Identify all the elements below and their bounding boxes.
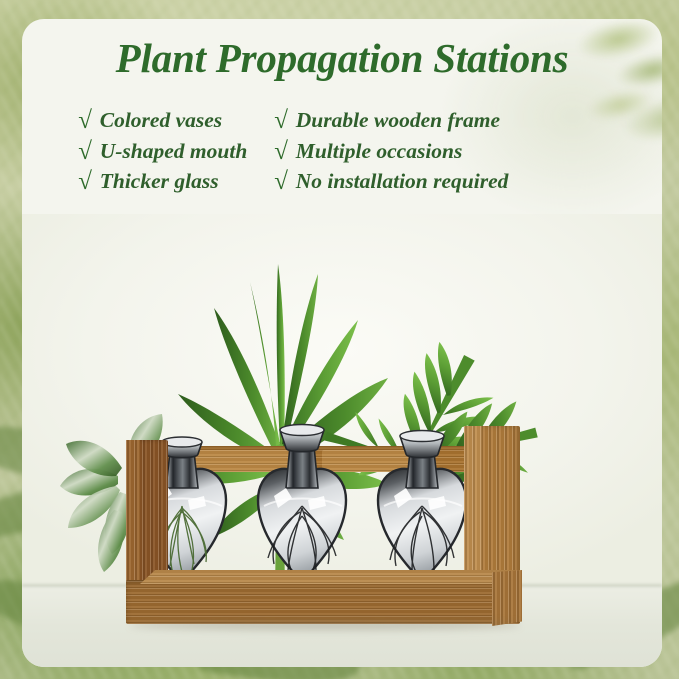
check-icon: √ [78,139,92,164]
feature-column-left: √ Colored vases √ U-shaped mouth √ Thick… [22,107,274,196]
feature-label: Multiple occasions [296,138,463,166]
feature-label: Colored vases [100,107,222,135]
feature-item-durable-wooden-frame: √ Durable wooden frame [274,107,662,135]
feature-list: √ Colored vases √ U-shaped mouth √ Thick… [22,107,662,196]
feature-item-no-installation-required: √ No installation required [274,168,662,196]
feature-item-colored-vases: √ Colored vases [78,107,274,135]
check-icon: √ [274,139,288,164]
check-icon: √ [274,108,288,133]
feature-column-right: √ Durable wooden frame √ Multiple occasi… [274,107,662,196]
rack-base-side-face [492,570,522,626]
page-title: Plant Propagation Stations [30,37,654,80]
vase-right [378,431,466,583]
feature-label: No installation required [296,168,509,196]
header: Plant Propagation Stations [22,19,662,80]
rack-base-front [126,580,520,624]
check-icon: √ [78,108,92,133]
feature-item-thicker-glass: √ Thicker glass [78,168,274,196]
rack-base-top-edge [140,570,520,584]
feature-item-multiple-occasions: √ Multiple occasions [274,138,662,166]
vase-center [258,425,346,583]
feature-label: U-shaped mouth [100,138,248,166]
feature-item-u-shaped-mouth: √ U-shaped mouth [78,138,274,166]
content-card: Plant Propagation Stations √ Colored vas… [22,19,662,667]
check-icon: √ [274,169,288,194]
rack-shadow [130,620,520,630]
feature-label: Thicker glass [100,168,219,196]
feature-label: Durable wooden frame [296,107,500,135]
product-photo [22,214,662,667]
infographic-canvas: Plant Propagation Stations √ Colored vas… [0,0,679,679]
check-icon: √ [78,169,92,194]
